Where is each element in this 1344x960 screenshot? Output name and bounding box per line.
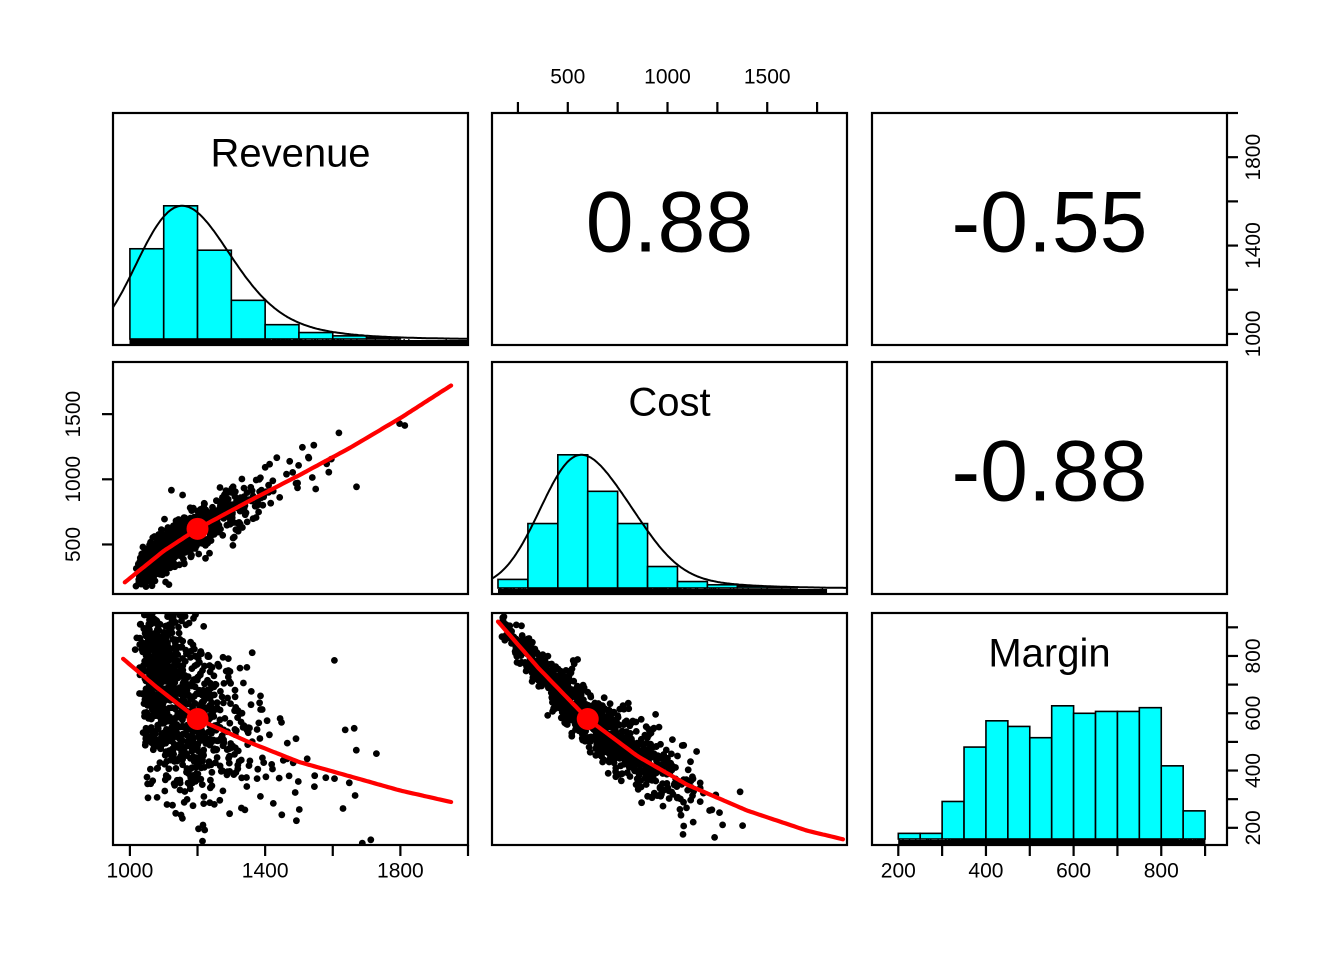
histogram-bar [198, 250, 232, 339]
scatter-point [135, 579, 142, 586]
scatter-point [289, 469, 296, 476]
panel-variable-label-revenue: Revenue [210, 131, 370, 175]
scatter-point [580, 682, 587, 689]
scatter-point [697, 798, 704, 805]
scatter-point [154, 794, 161, 801]
scatter-point [151, 616, 158, 623]
scatter-point [501, 613, 508, 620]
histogram-bar [231, 300, 265, 339]
scatter-point [169, 554, 176, 561]
splom-canvas: 5001000150010001400180050010001500200400… [0, 0, 1344, 960]
scatter-point [201, 500, 208, 507]
scatter-point [644, 793, 651, 800]
scatter-point [193, 540, 200, 547]
scatter-point [132, 646, 139, 653]
scatter-point [232, 745, 239, 752]
scatter-point [266, 731, 273, 738]
axis-tick-label: 400 [1242, 753, 1265, 788]
scatter-point [208, 704, 215, 711]
scatter-point [137, 635, 144, 642]
scatter-point [135, 561, 142, 568]
scatter-point [212, 681, 219, 688]
scatter-point [230, 542, 237, 549]
scatter-point [273, 454, 280, 461]
scatter-point [664, 784, 671, 791]
scatter-point [226, 720, 233, 727]
scatter-point [201, 793, 208, 800]
scatter-point [141, 551, 148, 558]
scatter-point [342, 727, 349, 734]
scatter-point [612, 773, 619, 780]
scatter-point [292, 789, 299, 796]
scatter-point [299, 444, 306, 451]
scatter-point [255, 509, 262, 516]
histogram-bar [498, 579, 528, 588]
scatter-point [161, 788, 168, 795]
scatter-point [304, 755, 311, 762]
scatter-point [145, 627, 152, 634]
scatter-point [196, 687, 203, 694]
scatter-point [351, 725, 358, 732]
scatter-point [278, 811, 285, 818]
scatter-point [573, 685, 580, 692]
scatter-point [157, 759, 164, 766]
splom-panel-r1c1: Revenue [113, 113, 468, 347]
scatter-point [669, 736, 676, 743]
scatter-point [286, 773, 293, 780]
scatter-point [254, 775, 261, 782]
scatter-point [237, 665, 244, 672]
axis-tick-label: 1400 [1242, 222, 1265, 269]
splom-panel-r3c1 [113, 610, 468, 846]
axis-tick-label: 500 [550, 65, 585, 88]
scatter-point [190, 802, 197, 809]
scatter-point [246, 762, 253, 769]
correlation-value: -0.55 [951, 175, 1147, 271]
scatter-point [232, 687, 239, 694]
scatter-point [231, 534, 238, 541]
scatter-point [189, 665, 196, 672]
scatter-point [237, 524, 244, 531]
scatter-point [157, 676, 164, 683]
scatter-point [663, 747, 670, 754]
axis-tick-label: 1400 [242, 859, 289, 882]
scatter-point [269, 477, 276, 484]
centroid-marker [187, 518, 209, 540]
scatter-point [352, 792, 359, 799]
scatter-point [199, 781, 206, 788]
scatter-point [675, 794, 682, 801]
scatter-point [190, 642, 197, 649]
scatter-point [353, 483, 360, 490]
scatter-point [182, 730, 189, 737]
scatter-point [226, 810, 233, 817]
scatter-point [674, 753, 681, 760]
scatter-point [150, 740, 157, 747]
scatter-point [199, 838, 206, 845]
scatter-point [257, 474, 264, 481]
axis-tick-label: 1000 [62, 456, 85, 503]
scatter-point [185, 770, 192, 777]
scatter-point [690, 819, 697, 826]
scatter-point [216, 663, 223, 670]
scatter-point [737, 788, 744, 795]
scatter-point [293, 480, 300, 487]
histogram-bar [265, 325, 299, 339]
scatter-point [220, 654, 227, 661]
scatter-point [227, 700, 234, 707]
scatter-point [174, 523, 181, 530]
scatter-point [286, 458, 293, 465]
scatter-point [240, 680, 247, 687]
scatter-point [174, 777, 181, 784]
centroid-marker [187, 708, 209, 730]
scatter-point [601, 694, 608, 701]
scatter-point [213, 747, 220, 754]
scatter-point [276, 494, 283, 501]
scatter-point [232, 693, 239, 700]
scatter-point [202, 555, 209, 562]
scatter-point [257, 706, 264, 713]
histogram-bar [677, 582, 707, 588]
scatter-point [706, 807, 713, 814]
scatter-point [283, 471, 290, 478]
scatter-point [142, 695, 149, 702]
scatter-point [683, 805, 690, 812]
scatter-point [657, 785, 664, 792]
scatter-point [179, 492, 186, 499]
histogram-bar [299, 333, 333, 339]
scatter-point [166, 671, 173, 678]
splom-panel-r2c1 [113, 362, 468, 594]
scatter-point [587, 749, 594, 756]
scatter-point [209, 769, 216, 776]
scatter-point [175, 516, 182, 523]
scatter-point [157, 539, 164, 546]
scatter-point [276, 775, 283, 782]
scatter-point [240, 724, 247, 731]
panel-frame [492, 613, 847, 845]
axis-tick-label: 1000 [1242, 311, 1265, 358]
scatter-point [267, 500, 274, 507]
scatter-point [666, 795, 673, 802]
scatter-point [195, 655, 202, 662]
scatter-point [232, 488, 239, 495]
scatter-point [145, 711, 152, 718]
scatter-point [660, 803, 667, 810]
scatter-point [176, 630, 183, 637]
scatter-point [175, 675, 182, 682]
scatter-point [340, 805, 347, 812]
scatter-point [166, 621, 173, 628]
scatter-point [188, 552, 195, 559]
scatter-point [257, 693, 264, 700]
scatter-point [178, 742, 185, 749]
scatter-point [257, 793, 264, 800]
scatter-point [180, 522, 187, 529]
scatter-point [187, 654, 194, 661]
scatter-point [206, 662, 213, 669]
scatter-point [638, 799, 645, 806]
scatter-point [177, 547, 184, 554]
scatter-point [178, 812, 185, 819]
scatter-point [155, 627, 162, 634]
histogram-bar [588, 491, 618, 588]
scatter-point [169, 629, 176, 636]
scatter-point [174, 730, 181, 737]
scatter-point [168, 487, 175, 494]
axis-tick-label: 1500 [62, 391, 85, 438]
scatter-point [680, 831, 687, 838]
scatter-point [311, 783, 318, 790]
scatter-point [518, 622, 525, 629]
scatter-point [169, 723, 176, 730]
scatter-point [216, 797, 223, 804]
scatter-point [373, 750, 380, 757]
scatter-point [203, 740, 210, 747]
scatter-point [173, 648, 180, 655]
scatter-point [155, 668, 162, 675]
scatter-point [322, 774, 329, 781]
axis-tick-label: 600 [1056, 859, 1091, 882]
scatter-point [144, 781, 151, 788]
scatter-point [254, 726, 261, 733]
scatter-point [225, 667, 232, 674]
splom-panel-r1c3: -0.55 [872, 113, 1227, 345]
scatter-point [293, 817, 300, 824]
scatter-point [257, 735, 264, 742]
scatter-point [218, 735, 225, 742]
scatter-point [633, 728, 640, 735]
scatter-point [693, 748, 700, 755]
scatter-point [145, 794, 152, 801]
scatter-point [311, 772, 318, 779]
scatter-point [227, 521, 234, 528]
histogram-bar [164, 206, 198, 339]
scatter-point [548, 661, 555, 668]
scatter-point [224, 772, 231, 779]
scatter-point [225, 674, 232, 681]
scatter-point [248, 688, 255, 695]
scatter-point [277, 715, 284, 722]
scatter-point [295, 778, 302, 785]
scatter-point [336, 430, 343, 437]
scatter-point [331, 657, 338, 664]
scatter-point [217, 688, 224, 695]
scatter-point [176, 690, 183, 697]
scatter-point [309, 474, 316, 481]
scatter-point [719, 822, 726, 829]
axis-tick-label: 1000 [107, 859, 154, 882]
histogram-bar [648, 567, 678, 588]
scatter-point [568, 733, 575, 740]
scatter-point [266, 461, 273, 468]
scatter-point [162, 732, 169, 739]
axis-tick-label: 1800 [377, 859, 424, 882]
scatter-point [230, 771, 237, 778]
scatter-point [325, 469, 332, 476]
scatter-point [217, 484, 224, 491]
scatter-point [250, 515, 257, 522]
scatter-point [166, 529, 173, 536]
scatter-point [203, 513, 210, 520]
scatter-point [612, 765, 619, 772]
scatter-point [181, 689, 188, 696]
scatter-point [346, 779, 353, 786]
scatter-point [174, 758, 181, 765]
splom-panel-r1c2: 0.88 [492, 113, 847, 345]
scatter-point [181, 724, 188, 731]
scatter-point [168, 704, 175, 711]
axis-tick-label: 600 [1242, 696, 1265, 731]
scatter-point [312, 486, 319, 493]
scatter-point [184, 796, 191, 803]
scatter-point [173, 765, 180, 772]
scatter-point [145, 637, 152, 644]
scatter-point [296, 806, 303, 813]
scatter-point [190, 743, 197, 750]
histogram-bar [558, 455, 588, 588]
scatter-point [153, 694, 160, 701]
scatter-point [154, 765, 161, 772]
scatter-point [192, 778, 199, 785]
scatter-point [239, 476, 246, 483]
scatter-point [254, 766, 261, 773]
scatter-point [219, 494, 226, 501]
scatter-point [637, 777, 644, 784]
correlation-value: -0.88 [951, 424, 1147, 520]
scatter-point [169, 655, 176, 662]
scatter-point [182, 515, 189, 522]
scatter-point [231, 751, 238, 758]
scatter-point [685, 766, 692, 773]
scatter-point [607, 700, 614, 707]
scatter-point [195, 825, 202, 832]
scatter-point [687, 797, 694, 804]
scatter-point [293, 735, 300, 742]
axis-tick-label: 1500 [744, 65, 791, 88]
scatter-point [154, 710, 161, 717]
scatter-point [200, 747, 207, 754]
scatter-point [147, 655, 154, 662]
histogram-bar [333, 336, 367, 339]
scatter-point [179, 528, 186, 535]
splom-panel-r3c2 [492, 613, 847, 845]
scatter-point [164, 536, 171, 543]
scatter-point [574, 656, 581, 663]
scatter-point [638, 716, 645, 723]
scatter-point [169, 802, 176, 809]
scatter-point [147, 766, 154, 773]
scatter-point [177, 787, 184, 794]
axis-tick-label: 400 [968, 859, 1003, 882]
scatter-point [209, 782, 216, 789]
scatter-point [711, 834, 718, 841]
histogram-bar [707, 585, 737, 588]
correlation-value: 0.88 [586, 175, 753, 271]
scatter-point [264, 717, 271, 724]
scatter-point [593, 743, 600, 750]
panel-variable-label-cost: Cost [628, 380, 710, 424]
scatter-point [172, 668, 179, 675]
scatter-point [171, 563, 178, 570]
scatter-point [270, 800, 277, 807]
scatter-point [205, 653, 212, 660]
scatter-point [310, 442, 317, 449]
scatter-point [197, 757, 204, 764]
axis-tick-label: 200 [1242, 810, 1265, 845]
scatter-point [184, 700, 191, 707]
scatterplot-matrix-figure: 5001000150010001400180050010001500200400… [0, 0, 1344, 960]
scatter-point [157, 737, 164, 744]
axis-tick-label: 800 [1242, 638, 1265, 673]
scatter-point [599, 759, 606, 766]
scatter-point [603, 718, 610, 725]
scatter-point [305, 454, 312, 461]
scatter-point [662, 759, 669, 766]
scatter-point [680, 742, 687, 749]
histogram-bar [130, 249, 164, 339]
scatter-point [136, 690, 143, 697]
scatter-point [225, 755, 232, 762]
scatter-point [217, 716, 224, 723]
scatter-point [187, 736, 194, 743]
scatter-point [210, 506, 217, 513]
scatter-point [166, 581, 173, 588]
scatter-point [218, 768, 225, 775]
scatter-point [207, 691, 214, 698]
panels-layer: Revenue0.88-0.55Cost-0.88Margin [0, 113, 1227, 847]
scatter-point [249, 487, 256, 494]
scatter-point [155, 652, 162, 659]
scatter-point [152, 569, 159, 576]
scatter-point [169, 679, 176, 686]
scatter-point [566, 678, 573, 685]
scatter-point [187, 755, 194, 762]
histogram-bar [618, 524, 648, 588]
scatter-point [179, 717, 186, 724]
scatter-point [331, 775, 338, 782]
scatter-point [244, 664, 251, 671]
scatter-point [234, 762, 241, 769]
scatter-point [244, 519, 251, 526]
histogram-bar [528, 524, 558, 588]
scatter-point [158, 640, 165, 647]
scatter-point [194, 674, 201, 681]
scatter-point [154, 726, 161, 733]
scatter-point [269, 766, 276, 773]
scatter-point [255, 720, 262, 727]
scatter-point [687, 758, 694, 765]
axis-tick-label: 200 [881, 859, 916, 882]
axis-tick-label: 1800 [1242, 134, 1265, 181]
scatter-point [172, 619, 179, 626]
axis-tick-label: 800 [1144, 859, 1179, 882]
scatter-point [238, 805, 245, 812]
scatter-point [167, 738, 174, 745]
scatter-point [284, 740, 291, 747]
scatter-point [248, 701, 255, 708]
scatter-point [243, 783, 250, 790]
scatter-point [200, 800, 207, 807]
scatter-point [170, 636, 177, 643]
scatter-point [211, 672, 218, 679]
scatter-point [185, 673, 192, 680]
scatter-point [263, 773, 270, 780]
scatter-point [249, 649, 256, 656]
scatter-point [161, 516, 168, 523]
scatter-point [225, 496, 232, 503]
